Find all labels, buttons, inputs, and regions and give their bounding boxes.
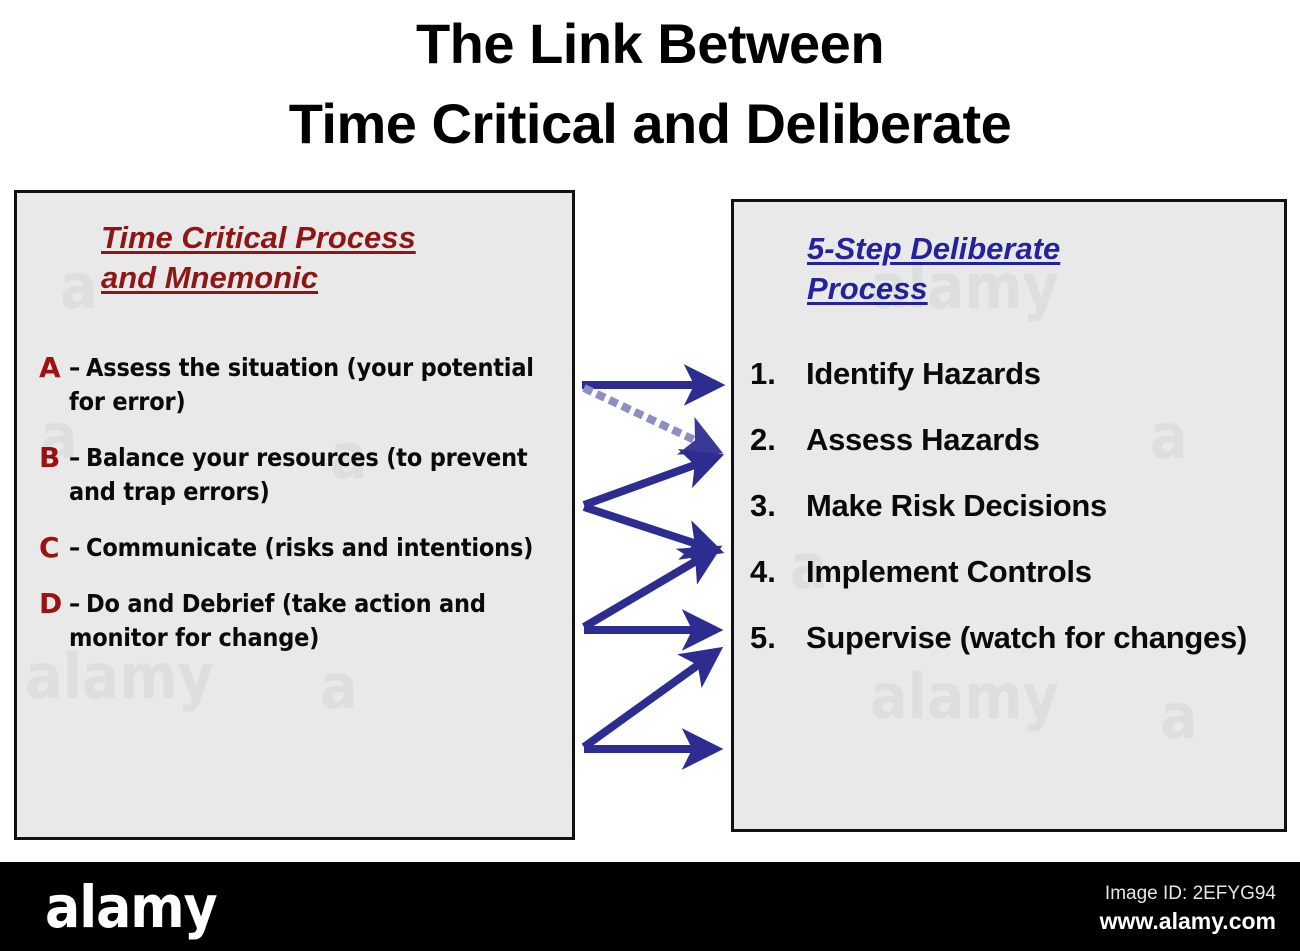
mnemonic-label: Communicate (risks and intentions) [86, 533, 533, 562]
step-label-4: Implement Controls [806, 552, 1280, 592]
mnemonic-list: A –Assess the situation (your potential … [39, 351, 569, 677]
list-item: 5. Supervise (watch for changes) [750, 618, 1280, 658]
alamy-footer-bar: alamy Image ID: 2EFYG94 www.alamy.com [0, 862, 1300, 951]
deliberate-process-panel: 5-Step Deliberate Process 1. Identify Ha… [731, 199, 1287, 832]
connector-arrows-group [570, 350, 735, 780]
list-item: 1. Identify Hazards [750, 354, 1280, 394]
step-label-3: Make Risk Decisions [806, 486, 1280, 526]
mnemonic-text-b: –Balance your resources (to prevent and … [69, 441, 569, 509]
mnemonic-letter-b: B [39, 441, 69, 475]
list-item: 4. Implement Controls [750, 552, 1280, 592]
page-title: The Link Between Time Critical and Delib… [0, 4, 1300, 163]
alamy-url-text: www.alamy.com [856, 907, 1276, 935]
time-critical-panel: Time Critical Process and Mnemonic A –As… [14, 190, 575, 840]
list-item: 2. Assess Hazards [750, 420, 1280, 460]
mnemonic-text-a: –Assess the situation (your potential fo… [69, 351, 569, 419]
mnemonic-dash: – [69, 353, 80, 382]
step-number-4: 4. [750, 552, 806, 592]
mnemonic-dash: – [69, 533, 80, 562]
time-critical-heading: Time Critical Process and Mnemonic [101, 218, 571, 299]
list-item: B –Balance your resources (to prevent an… [39, 441, 569, 509]
list-item: D –Do and Debrief (take action and monit… [39, 587, 569, 655]
diagram-page: The Link Between Time Critical and Delib… [0, 0, 1300, 951]
step-number-2: 2. [750, 420, 806, 460]
mnemonic-letter-c: C [39, 531, 69, 565]
mnemonic-label: Balance your resources (to prevent and t… [69, 443, 528, 506]
arrow-d-to-step4 [584, 660, 705, 747]
list-item: C –Communicate (risks and intentions) [39, 531, 569, 565]
mnemonic-label: Assess the situation (your potential for… [69, 353, 534, 416]
step-number-1: 1. [750, 354, 806, 394]
five-step-list: 1. Identify Hazards 2. Assess Hazards 3.… [750, 354, 1280, 684]
mnemonic-dash: – [69, 443, 80, 472]
mnemonic-letter-d: D [39, 587, 69, 621]
step-number-3: 3. [750, 486, 806, 526]
arrow-b-to-step2 [584, 462, 703, 505]
mnemonic-label: Do and Debrief (take action and monitor … [69, 589, 486, 652]
mnemonic-letter-a: A [39, 351, 69, 385]
arrow-b-to-step3 [584, 507, 703, 546]
arrow-c-to-step3 [584, 557, 703, 627]
list-item: 3. Make Risk Decisions [750, 486, 1280, 526]
image-id-text: Image ID: 2EFYG94 [856, 882, 1276, 906]
mnemonic-text-d: –Do and Debrief (take action and monitor… [69, 587, 569, 655]
mnemonic-dash: – [69, 589, 80, 618]
alamy-logo: alamy [45, 878, 217, 936]
deliberate-process-heading: 5-Step Deliberate Process [807, 229, 1247, 310]
step-label-1: Identify Hazards [806, 354, 1280, 394]
arrow-a-to-step2-faded [584, 388, 703, 444]
step-number-5: 5. [750, 618, 806, 658]
mnemonic-text-c: –Communicate (risks and intentions) [69, 531, 569, 565]
step-label-5: Supervise (watch for changes) [806, 618, 1280, 658]
list-item: A –Assess the situation (your potential … [39, 351, 569, 419]
step-label-2: Assess Hazards [806, 420, 1280, 460]
